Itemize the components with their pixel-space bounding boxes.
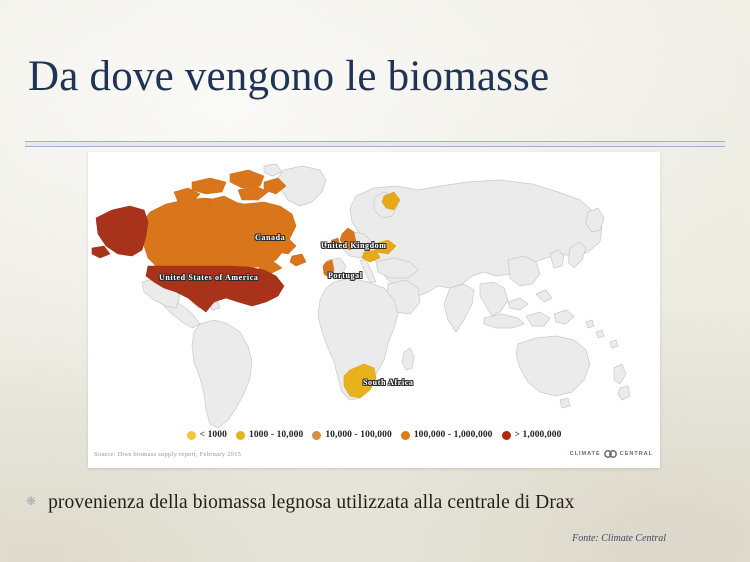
footer-source-note: Fonte: Climate Central [572,533,666,544]
legend-label: 100,000 - 1,000,000 [414,430,493,440]
map-label-south-africa: South Africa [363,378,414,387]
legend-label: 10,000 - 100,000 [325,430,392,440]
bullet-star-icon: ❈ [26,495,36,507]
legend-item: 1000 - 10,000 [236,430,303,440]
linked-circles-icon [603,450,618,458]
map-label-portugal: Portugal [328,271,363,280]
legend-label: > 1,000,000 [515,430,562,440]
legend-item: 10,000 - 100,000 [312,430,392,440]
legend-item: < 1000 [187,430,227,440]
legend-item: > 1,000,000 [502,430,562,440]
legend-label: < 1000 [200,430,227,440]
legend-swatch-icon [312,431,321,440]
legend-swatch-icon [401,431,410,440]
map-label-canada: Canada [255,233,285,242]
map-label-usa: United States of America [159,273,259,282]
map-region-canada [142,170,306,274]
page-title: Da dove vengono le biomasse [28,54,549,99]
legend-swatch-icon [502,431,511,440]
world-map: Canada United States of America United K… [88,156,660,430]
bullet-text: provenienza della biomassa legnosa utili… [48,492,574,514]
slide-canvas: Da dove vengono le biomasse [0,0,750,562]
legend-item: 100,000 - 1,000,000 [401,430,493,440]
map-region-alaska [92,206,148,258]
map-label-united-kingdom: United Kingdom [321,241,387,250]
logo-word-right: CENTRAL [620,451,653,457]
map-figure: Canada United States of America United K… [88,152,660,468]
logo-word-left: CLIMATE [570,451,601,457]
legend-swatch-icon [187,431,196,440]
title-divider [25,141,725,147]
map-legend: < 1000 1000 - 10,000 10,000 - 100,000 10… [88,430,660,440]
legend-label: 1000 - 10,000 [249,430,303,440]
climate-central-logo: CLIMATE CENTRAL [570,450,653,458]
bullet-list-item: ❈ provenienza della biomassa legnosa uti… [26,492,726,514]
legend-swatch-icon [236,431,245,440]
figure-source-note: Source: Drax biomass supply report, Febr… [94,451,241,458]
